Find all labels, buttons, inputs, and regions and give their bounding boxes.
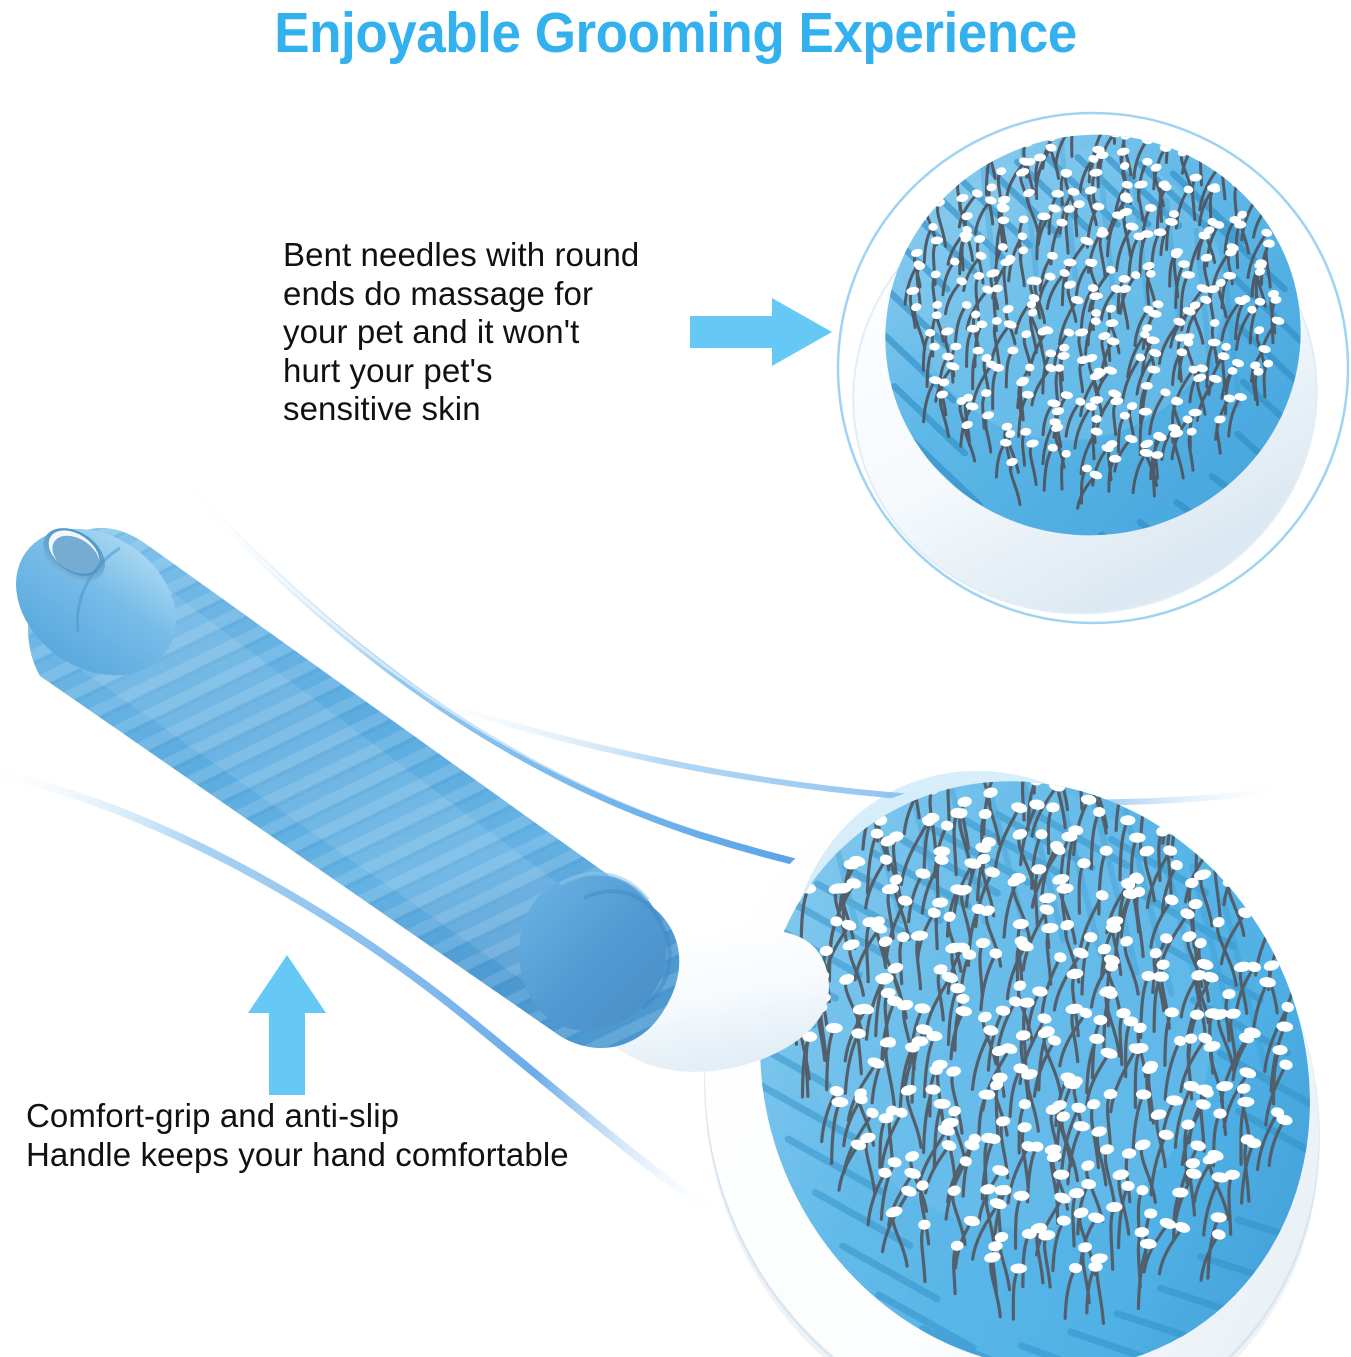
callout-text-needles: Bent needles with round ends do massage … [283, 236, 703, 429]
callout-text-handle: Comfort-grip and anti-slip Handle keeps … [26, 1097, 666, 1174]
arrow-up-icon [248, 955, 326, 1095]
needle-closeup-circle [825, 96, 1348, 643]
page-title: Enjoyable Grooming Experience [47, 2, 1303, 64]
arrow-right-icon [690, 296, 832, 368]
brush-handle [0, 499, 829, 1072]
infographic-canvas: Enjoyable Grooming Experience Bent needl… [0, 0, 1351, 1357]
